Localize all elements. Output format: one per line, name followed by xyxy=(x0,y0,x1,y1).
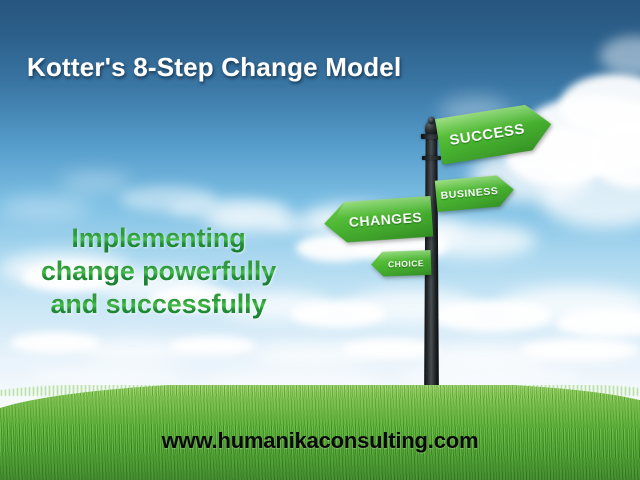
signpost-sign-success[interactable]: SUCCESS xyxy=(435,99,555,166)
tagline-line-1: Implementing xyxy=(6,222,311,255)
signpost-sign-changes[interactable]: CHANGES xyxy=(323,194,434,245)
tagline-line-2: change powerfully xyxy=(6,255,311,288)
signpost-sign-choice[interactable]: CHOICE xyxy=(371,249,432,278)
slide-canvas: SUCCESS BUSINESS CHANGES CHOICE Kotter's… xyxy=(0,0,640,480)
pole-collar xyxy=(422,156,441,160)
tagline-line-3: and successfully xyxy=(6,288,311,321)
signpost-sign-business[interactable]: BUSINESS xyxy=(435,173,516,214)
sign-label: CHOICE xyxy=(371,257,431,269)
tagline-block: Implementing change powerfully and succe… xyxy=(6,222,311,321)
page-title: Kotter's 8-Step Change Model xyxy=(27,52,401,83)
website-url[interactable]: www.humanikaconsulting.com xyxy=(0,428,640,454)
